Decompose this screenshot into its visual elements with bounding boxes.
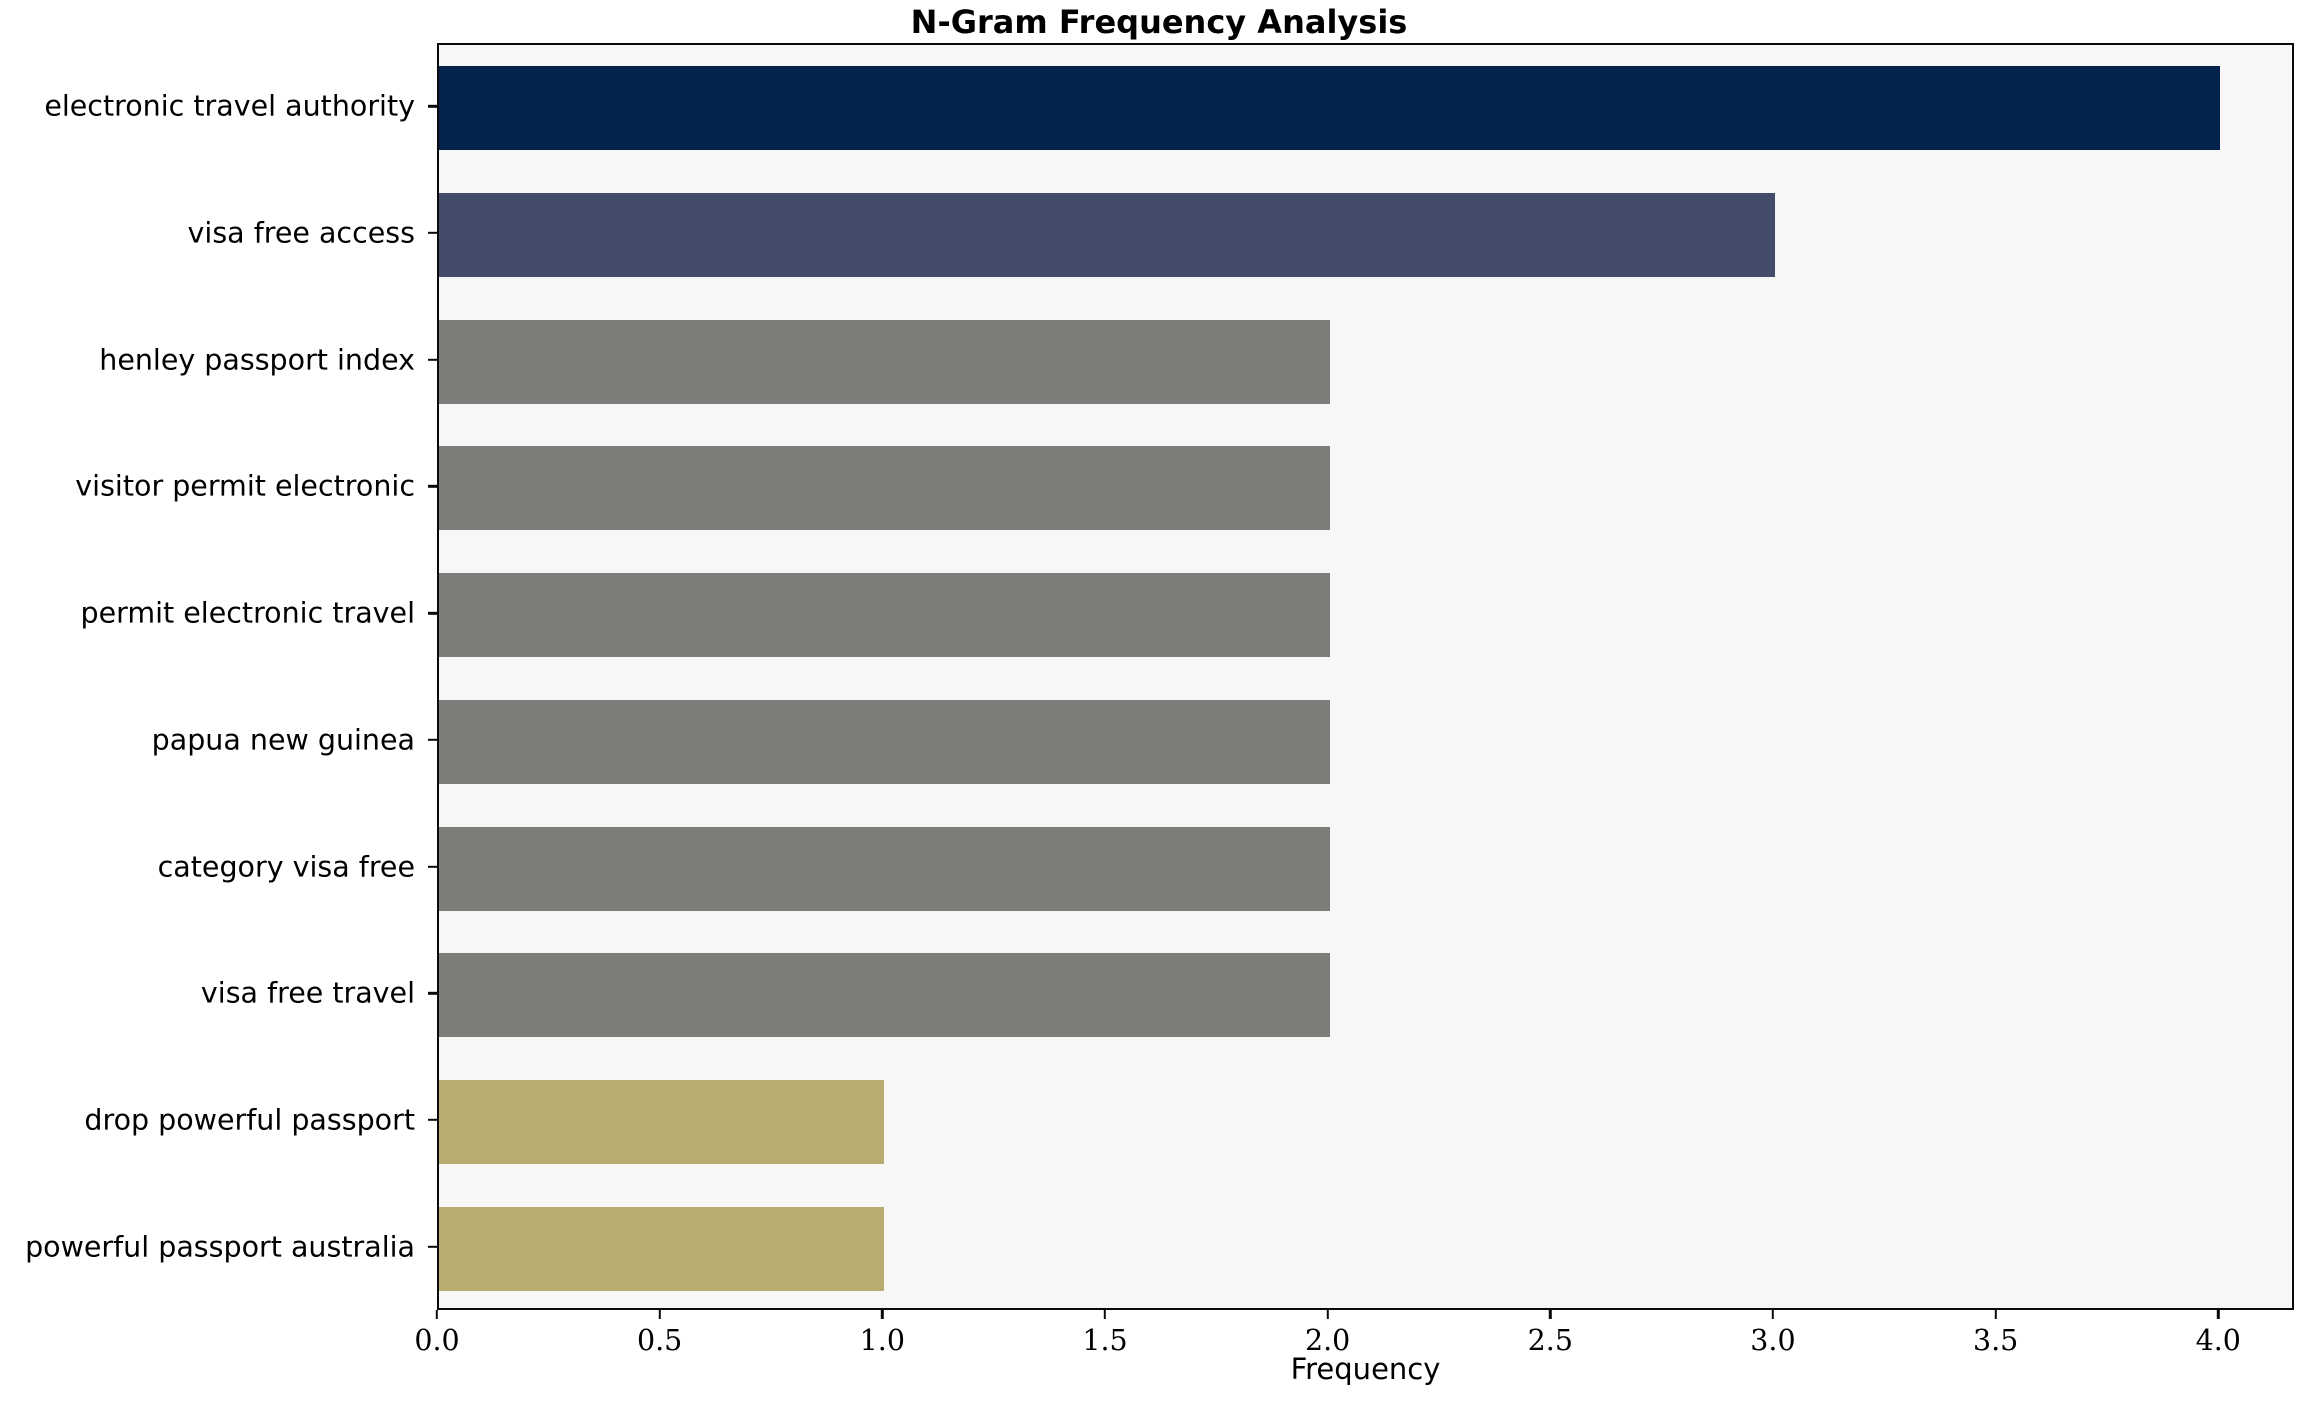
x-tick-mark <box>2217 1310 2219 1319</box>
x-tick-mark <box>1772 1310 1774 1319</box>
bar <box>439 953 1330 1037</box>
y-tick-mark <box>428 359 437 361</box>
chart-figure: N-Gram Frequency Analysis electronic tra… <box>0 0 2318 1414</box>
y-tick-mark <box>428 232 437 234</box>
y-tick-label: powerful passport australia <box>25 1230 415 1263</box>
y-axis-tick-labels: electronic travel authorityvisa free acc… <box>0 43 437 1310</box>
x-axis-title: Frequency <box>437 1352 2294 1386</box>
y-tick-mark <box>428 612 437 614</box>
y-tick-label: henley passport index <box>99 343 415 376</box>
bars-layer <box>439 45 2292 1308</box>
bar <box>439 66 2220 150</box>
y-tick-mark <box>428 1245 437 1247</box>
x-tick-mark <box>1549 1310 1551 1319</box>
x-tick-mark <box>881 1310 883 1319</box>
plot-area <box>437 43 2294 1310</box>
x-tick-mark <box>1994 1310 1996 1319</box>
bar <box>439 700 1330 784</box>
bar <box>439 1207 884 1291</box>
y-tick-mark <box>428 865 437 867</box>
bar <box>439 446 1330 530</box>
bar <box>439 573 1330 657</box>
x-tick-mark <box>1104 1310 1106 1319</box>
chart-title: N-Gram Frequency Analysis <box>0 3 2318 41</box>
y-tick-label: electronic travel authority <box>44 90 415 123</box>
bar <box>439 193 1775 277</box>
y-tick-label: visitor permit electronic <box>75 470 415 503</box>
bar <box>439 1080 884 1164</box>
y-tick-mark <box>428 105 437 107</box>
x-tick-mark <box>436 1310 438 1319</box>
y-tick-label: drop powerful passport <box>84 1103 415 1136</box>
y-tick-mark <box>428 739 437 741</box>
y-tick-label: visa free access <box>188 217 415 250</box>
y-tick-mark <box>428 1119 437 1121</box>
y-tick-mark <box>428 485 437 487</box>
y-tick-label: category visa free <box>158 850 415 883</box>
y-tick-label: visa free travel <box>201 977 415 1010</box>
x-tick-mark <box>1326 1310 1328 1319</box>
bar <box>439 320 1330 404</box>
x-tick-mark <box>658 1310 660 1319</box>
y-tick-mark <box>428 992 437 994</box>
y-tick-label: papua new guinea <box>152 723 415 756</box>
y-tick-label: permit electronic travel <box>81 597 416 630</box>
bar <box>439 827 1330 911</box>
